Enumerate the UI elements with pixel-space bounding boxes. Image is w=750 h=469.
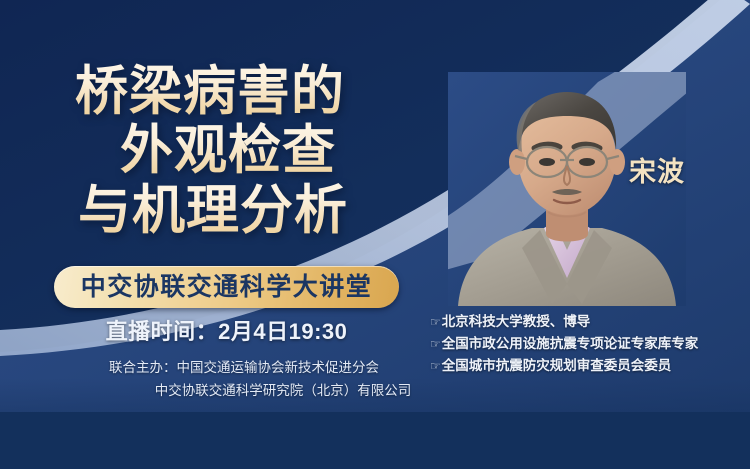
- broadcast-time: 直播时间：2月4日19:30: [54, 314, 399, 346]
- speaker-name: 宋波: [628, 155, 686, 191]
- credential-item: ☞ 全国市政公用设施抗震专项论证专家库专家: [430, 333, 746, 355]
- pointing-hand-icon: ☞: [430, 335, 441, 354]
- organizers-label: 联合主办：: [109, 356, 177, 379]
- page-title: 桥梁病害的 外观检查 与机理分析: [0, 62, 430, 240]
- credential-text: 北京科技大学教授、博导: [442, 311, 591, 333]
- series-banner-label: 中交协联交通科学大讲堂: [81, 275, 373, 300]
- pointing-hand-icon: ☞: [430, 357, 441, 376]
- organizer-row-1: 联合主办： 中国交通运输协会新技术促进分会: [54, 356, 434, 379]
- credential-text: 全国市政公用设施抗震专项论证专家库专家: [442, 333, 699, 355]
- credential-text: 全国城市抗震防灾规划审查委员会委员: [442, 355, 672, 377]
- credential-item: ☞ 全国城市抗震防灾规划审查委员会委员: [430, 355, 746, 377]
- series-banner: 中交协联交通科学大讲堂: [54, 266, 399, 308]
- pointing-hand-icon: ☞: [430, 313, 441, 332]
- webinar-poster: 宋波 桥梁病害的 外观检查 与机理分析 中交协联交通科学大讲堂 直播时间：2月4…: [0, 0, 750, 469]
- title-line-1: 桥梁病害的: [0, 62, 430, 121]
- credential-item: ☞ 北京科技大学教授、博导: [430, 311, 746, 333]
- organizer-name-1: 中国交通运输协会新技术促进分会: [177, 356, 380, 379]
- organizers-block: 联合主办： 中国交通运输协会新技术促进分会 中交协联交通科学研究院（北京）有限公…: [54, 356, 434, 402]
- organizer-row-2: 中交协联交通科学研究院（北京）有限公司: [54, 379, 434, 402]
- title-line-3: 与机理分析: [0, 181, 430, 240]
- organizer-name-2: 中交协联交通科学研究院（北京）有限公司: [155, 379, 412, 402]
- speaker-credentials: ☞ 北京科技大学教授、博导 ☞ 全国市政公用设施抗震专项论证专家库专家 ☞ 全国…: [430, 311, 746, 377]
- title-line-2: 外观检查: [26, 121, 430, 180]
